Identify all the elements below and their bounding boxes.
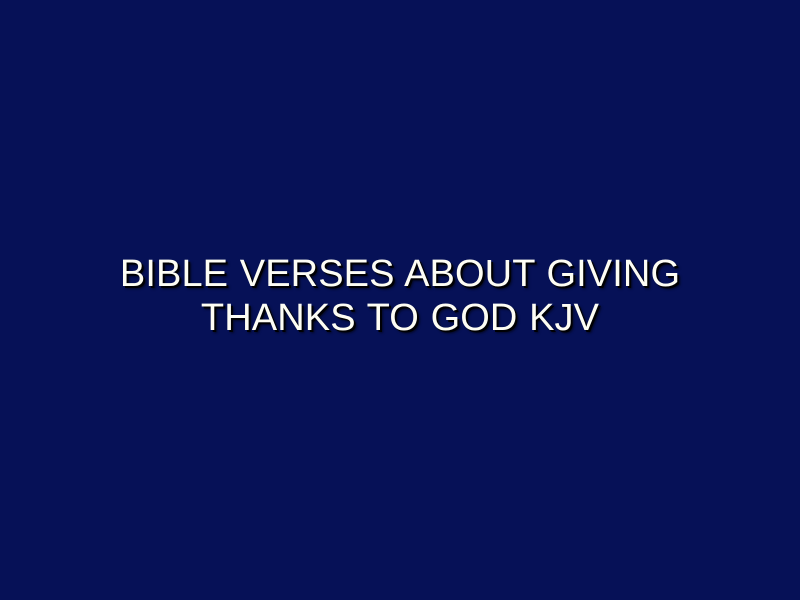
page-title: BIBLE VERSES ABOUT GIVING THANKS TO GOD … — [50, 252, 750, 340]
title-card: BIBLE VERSES ABOUT GIVING THANKS TO GOD … — [0, 0, 800, 600]
title-block: BIBLE VERSES ABOUT GIVING THANKS TO GOD … — [0, 252, 800, 340]
